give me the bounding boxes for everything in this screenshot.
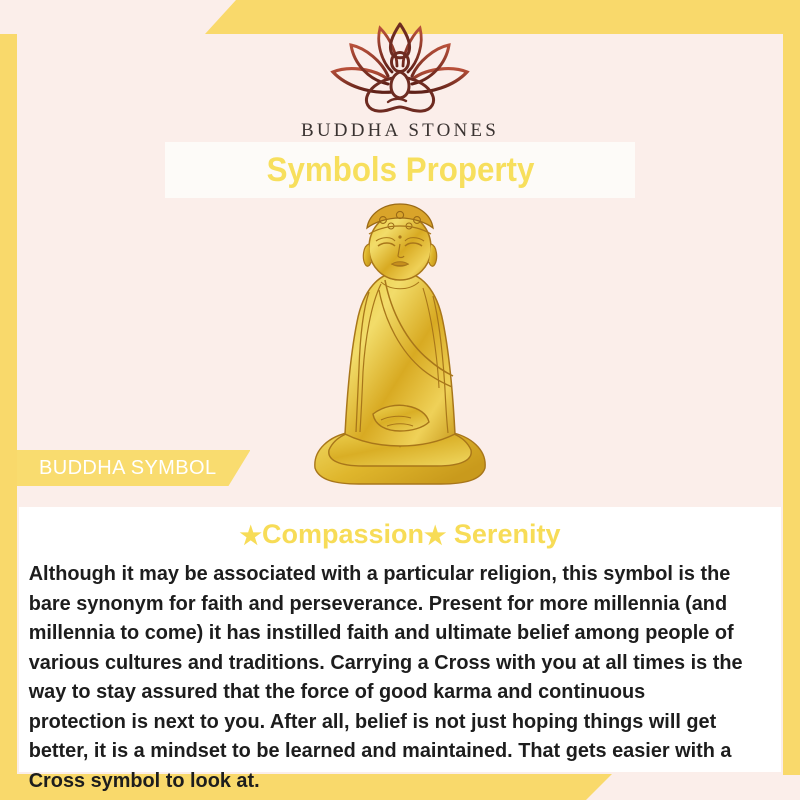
golden-seated-buddha-illustration: [305, 200, 495, 490]
star-icon-right: ★: [424, 522, 446, 550]
page-title: Symbols Property: [266, 151, 534, 190]
hero-image: [0, 200, 800, 490]
poster-root: BUDDHA STONES Symbols Property: [0, 0, 800, 800]
brand-name: BUDDHA STONES: [0, 120, 800, 142]
page-title-band: Symbols Property: [165, 142, 635, 198]
brand-logo: BUDDHA STONES: [0, 22, 800, 142]
lotus-meditation-icon: [314, 22, 486, 118]
section-ribbon: BUDDHA SYMBOL: [17, 450, 250, 486]
ribbon-label: BUDDHA SYMBOL: [39, 457, 216, 480]
tagline-first: Compassion: [262, 519, 424, 549]
tagline: ★Compassion★ Serenity: [19, 519, 781, 551]
star-icon-left: ★: [240, 522, 262, 550]
body-paragraph: Although it may be associated with a par…: [19, 559, 758, 795]
tagline-second: Serenity: [446, 519, 560, 549]
content-panel: ★Compassion★ Serenity Although it may be…: [19, 507, 781, 772]
